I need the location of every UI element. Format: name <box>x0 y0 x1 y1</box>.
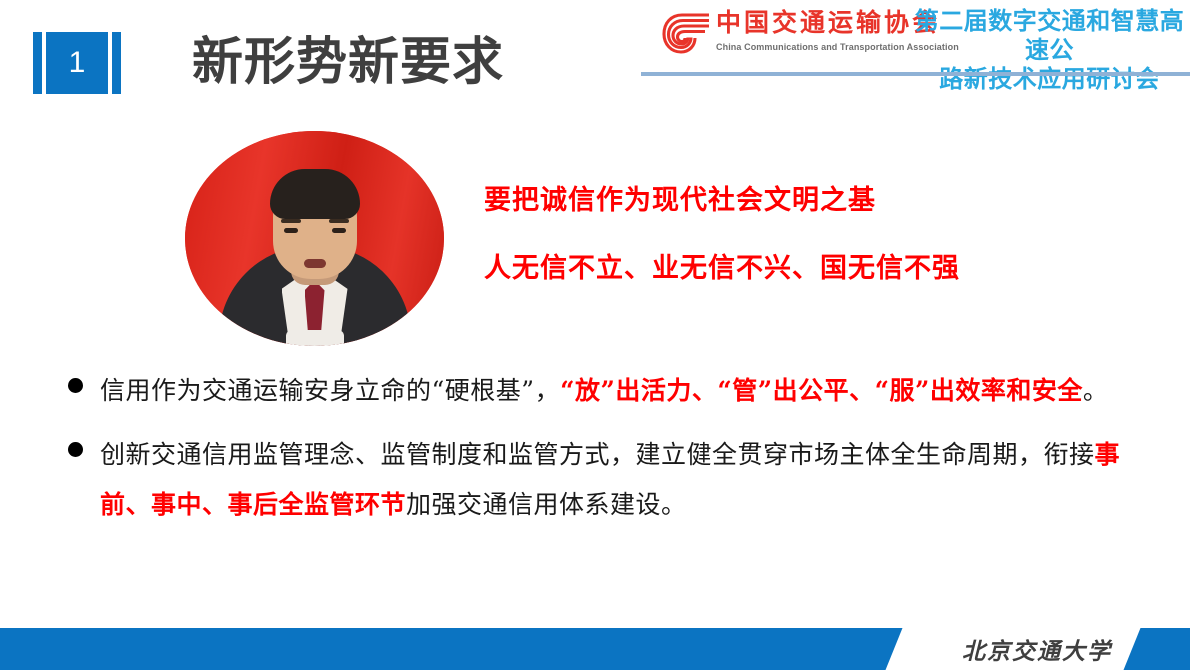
page-title: 新形势新要求 <box>192 30 504 94</box>
bullet-dot-icon <box>68 442 83 457</box>
badge-left-bar <box>33 32 42 94</box>
portrait-eyebrow-right <box>329 219 349 223</box>
portrait-eyebrow-left <box>281 219 301 223</box>
plain-run: 加强交通信用体系建设。 <box>406 490 687 519</box>
portrait-hair <box>270 169 360 219</box>
badge-right-bar <box>112 32 121 94</box>
section-number-value: 1 <box>46 32 108 94</box>
conference-title-line-2: 路新技术应用研讨会 <box>912 65 1187 94</box>
footer-university-name: 北京交通大学 <box>962 628 1112 670</box>
quote-line-2: 人无信不立、业无信不兴、国无信不强 <box>484 251 960 285</box>
portrait-photo <box>185 131 444 346</box>
bullet-dot-icon <box>68 378 83 393</box>
plain-run: 信用作为交通运输安身立命的“硬根基”， <box>100 376 560 405</box>
quote-line-1: 要把诚信作为现代社会文明之基 <box>484 183 876 217</box>
slide-canvas: 1 新形势新要求 中国交通运输协会 China Communications a… <box>0 0 1190 670</box>
plain-run: 。 <box>1083 376 1109 405</box>
list-item: 信用作为交通运输安身立命的“硬根基”，“放”出活力、“管”出公平、“服”出效率和… <box>68 366 1158 416</box>
portrait-mouth <box>304 259 326 268</box>
conference-title: 第二届数字交通和智慧高速公 路新技术应用研讨会 <box>912 7 1187 94</box>
conference-title-line-1: 第二届数字交通和智慧高速公 <box>915 8 1185 64</box>
highlighted-run: “放”出活力、“管”出公平、“服”出效率和安全 <box>560 376 1083 405</box>
section-number-badge: 1 <box>33 32 121 94</box>
spiral-swirl-icon <box>660 10 714 62</box>
bullet-text: 信用作为交通运输安身立命的“硬根基”，“放”出活力、“管”出公平、“服”出效率和… <box>100 366 1108 416</box>
portrait-nameplate <box>286 330 344 346</box>
footer-bar: 北京交通大学 <box>0 628 1190 670</box>
bullet-list: 信用作为交通运输安身立命的“硬根基”，“放”出活力、“管”出公平、“服”出效率和… <box>68 366 1158 544</box>
portrait-eye-left <box>284 228 298 233</box>
plain-run: 创新交通信用监管理念、监管制度和监管方式，建立健全贯穿市场主体全生命周期，衔接 <box>100 440 1095 469</box>
bullet-text: 创新交通信用监管理念、监管制度和监管方式，建立健全贯穿市场主体全生命周期，衔接事… <box>100 430 1158 530</box>
portrait-eye-right <box>332 228 346 233</box>
list-item: 创新交通信用监管理念、监管制度和监管方式，建立健全贯穿市场主体全生命周期，衔接事… <box>68 430 1158 530</box>
header-divider <box>641 72 1190 76</box>
speaker-portrait <box>185 131 444 346</box>
